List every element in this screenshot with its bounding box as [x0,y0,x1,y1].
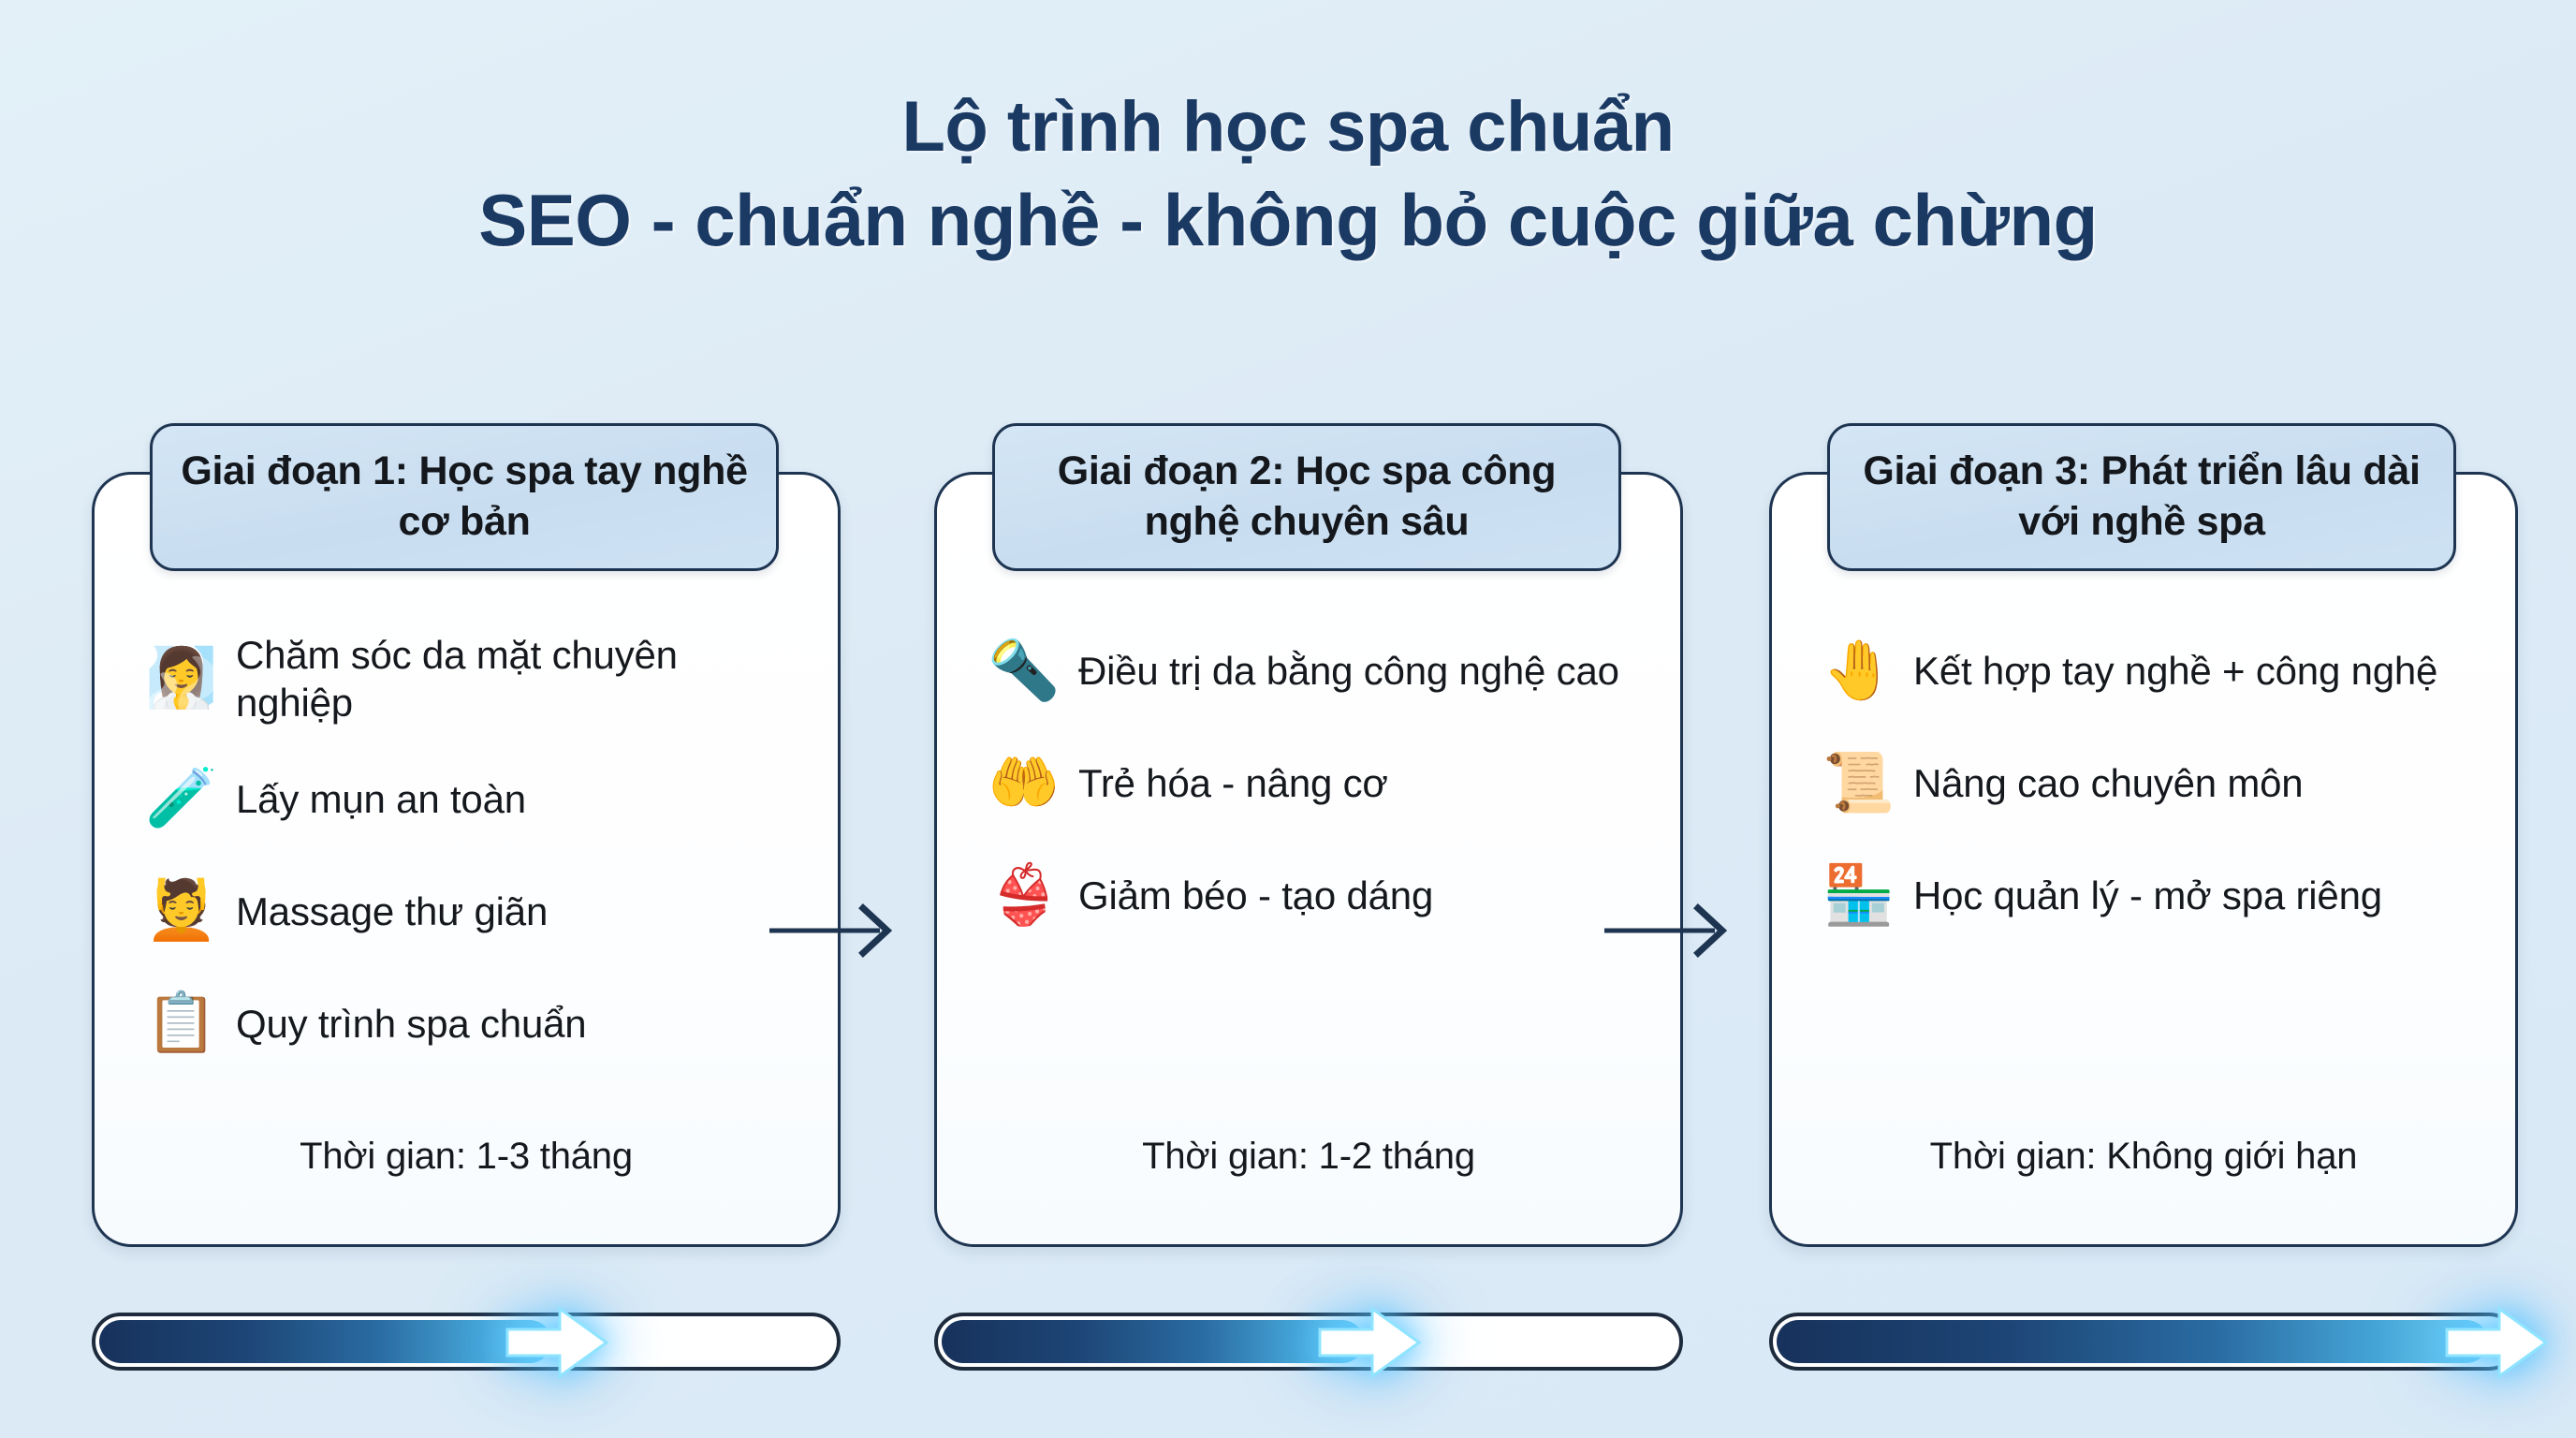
list-item-label: Giảm béo - tạo dáng [1069,872,1433,919]
list-item-label: Trẻ hóa - nâng cơ [1069,759,1388,807]
stage-card-2-items: 🔦 Điều trị da bằng công nghệ cao 🤲 Trẻ h… [934,631,1683,968]
stage-card-1-duration: Thời gian: 1-3 tháng [92,1136,841,1178]
progress-bar-1-fill [99,1320,551,1363]
face-lifting-icon: 🤲 [979,755,1069,813]
list-item-label: Massage thư giãn [227,888,548,935]
list-item-label: Điều trị da bằng công nghệ cao [1069,647,1619,695]
stage-card-1: Giai đoạn 1: Học spa tay nghề cơ bản 🧖‍♀… [92,423,841,1247]
acne-extraction-tool-icon: 🧪 [137,770,227,828]
stage-card-2: Giai đoạn 2: Học spa công nghệ chuyên sâ… [934,423,1683,1247]
body-slimming-icon: 👙 [979,867,1069,925]
list-item-label: Lấy mụn an toàn [227,775,526,823]
list-item: 🤲 Trẻ hóa - nâng cơ [979,743,1638,824]
list-item: 👙 Giảm béo - tạo dáng [979,856,1638,936]
stage-card-3-duration: Thời gian: Không giới hạn [1769,1136,2518,1178]
progress-bar-3-track [1769,1313,2518,1371]
stage-card-2-header: Giai đoạn 2: Học spa công nghệ chuyên sâ… [992,423,1621,571]
stage-card-3-items: 🤚 Kết hợp tay nghề + công nghệ 📜 Nâng ca… [1769,631,2518,968]
list-item: 💆 Massage thư giãn [137,871,796,951]
stage-card-1-header-label: Giai đoạn 1: Học spa tay nghề cơ bản [153,435,776,559]
progress-bar-1-track [92,1313,841,1371]
title-line-2: SEO - chuẩn nghề - không bỏ cuộc giữa ch… [0,178,2576,262]
progress-bar-2 [934,1299,1683,1386]
list-item: 📋 Quy trình spa chuẩn [137,983,796,1064]
progress-bar-3 [1769,1299,2518,1386]
stage-cards-container: Giai đoạn 1: Học spa tay nghề cơ bản 🧖‍♀… [0,423,2576,1247]
stage-card-3: Giai đoạn 3: Phát triển lâu dài với nghề… [1769,423,2518,1247]
stage-card-2-header-label: Giai đoạn 2: Học spa công nghệ chuyên sâ… [995,435,1618,559]
progress-bar-2-track [934,1313,1683,1371]
progress-bar-1 [92,1299,841,1386]
list-item-label: Học quản lý - mở spa riêng [1904,872,2382,919]
facial-care-icon: 🧖‍♀️ [137,650,227,708]
list-item-label: Kết hợp tay nghề + công nghệ [1904,647,2437,695]
list-item: 🧪 Lấy mụn an toàn [137,758,796,839]
clipboard-checklist-icon: 📋 [137,994,227,1052]
list-item: 🤚 Kết hợp tay nghề + công nghệ [1814,631,2473,712]
list-item-label: Chăm sóc da mặt chuyên nghiệp [227,631,796,726]
laser-device-icon: 🔦 [979,642,1069,700]
storefront-icon: 🏪 [1814,867,1904,925]
progress-bar-2-fill [942,1320,1364,1363]
stage-card-3-header: Giai đoạn 3: Phát triển lâu dài với nghề… [1827,423,2456,571]
list-item: 📜 Nâng cao chuyên môn [1814,743,2473,824]
stage-card-1-header: Giai đoạn 1: Học spa tay nghề cơ bản [150,423,779,571]
certificate-icon: 📜 [1814,755,1904,813]
list-item: 🏪 Học quản lý - mở spa riêng [1814,856,2473,936]
page-title: Lộ trình học spa chuẩn SEO - chuẩn nghề … [0,86,2576,263]
list-item-label: Quy trình spa chuẩn [227,1000,586,1048]
list-item: 🧖‍♀️ Chăm sóc da mặt chuyên nghiệp [137,631,796,726]
list-item-label: Nâng cao chuyên môn [1904,759,2303,807]
list-item: 🔦 Điều trị da bằng công nghệ cao [979,631,1638,712]
massage-icon: 💆 [137,882,227,940]
title-line-1: Lộ trình học spa chuẩn [0,86,2576,169]
stage-card-1-items: 🧖‍♀️ Chăm sóc da mặt chuyên nghiệp 🧪 Lấy… [92,631,841,1095]
progress-bar-3-fill [1777,1320,2488,1363]
stage-card-3-header-label: Giai đoạn 3: Phát triển lâu dài với nghề… [1830,435,2453,559]
progress-bars-container [0,1299,2576,1402]
hand-and-machine-icon: 🤚 [1814,642,1904,700]
stage-card-2-duration: Thời gian: 1-2 tháng [934,1136,1683,1178]
